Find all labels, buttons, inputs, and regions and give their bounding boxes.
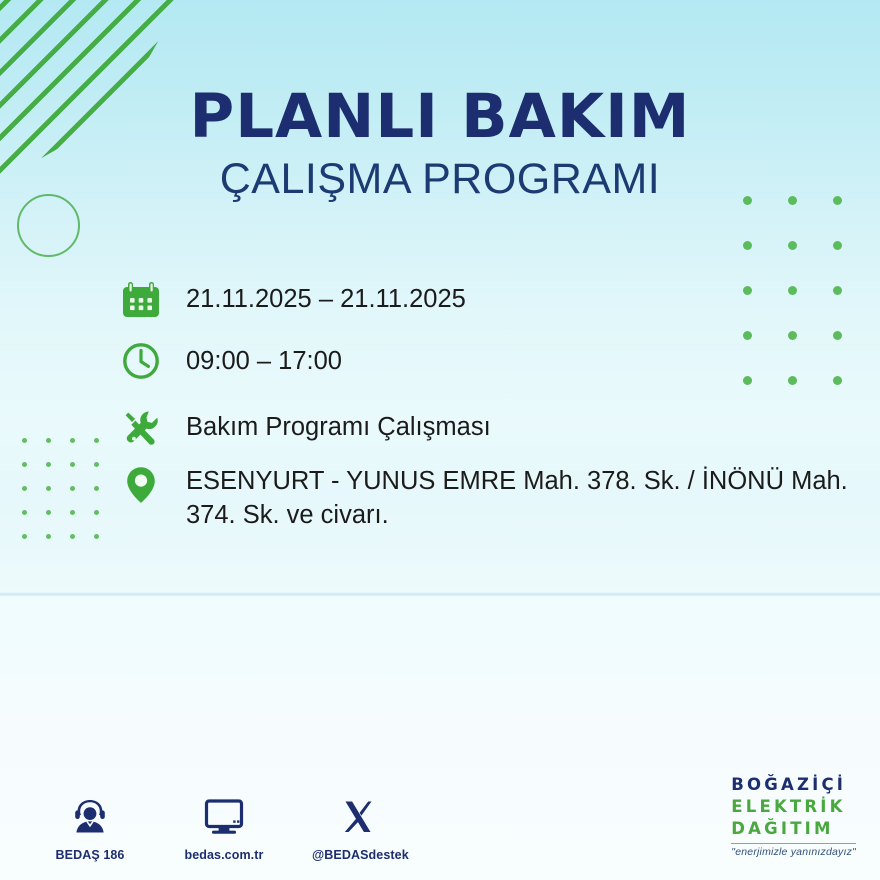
brand-tagline: "enerjimizle yanınızdayız" — [731, 846, 856, 858]
x-twitter-icon — [312, 792, 404, 840]
contact-phone-label: BEDAŞ 186 — [44, 848, 136, 862]
contact-phone[interactable]: BEDAŞ 186 — [44, 792, 136, 862]
brand-line-1: BOĞAZİÇİ — [731, 774, 856, 796]
detail-row-location: ESENYURT - YUNUS EMRE Mah. 378. Sk. / İN… — [118, 462, 858, 532]
monitor-icon — [178, 792, 270, 840]
contact-x-social[interactable]: @BEDASdestek — [312, 792, 404, 862]
contact-x-label: @BEDASdestek — [312, 848, 404, 862]
tools-icon — [118, 404, 164, 450]
detail-row-work-type: Bakım Programı Çalışması — [118, 404, 858, 450]
location-value: ESENYURT - YUNUS EMRE Mah. 378. Sk. / İN… — [186, 462, 858, 532]
page-subtitle: ÇALIŞMA PROGRAMI — [0, 158, 880, 201]
brand-divider — [731, 843, 856, 845]
calendar-icon — [118, 276, 164, 322]
headset-support-icon — [44, 792, 136, 840]
brand-logo: BOĞAZİÇİ ELEKTRİK DAĞITIM "enerjimizle y… — [731, 774, 856, 858]
footer-contact-links: BEDAŞ 186 bedas.com.tr @BEDASdestek — [44, 792, 404, 862]
contact-website-label: bedas.com.tr — [178, 848, 270, 862]
brand-line-3: DAĞITIM — [731, 818, 856, 840]
brand-line-2: ELEKTRİK — [731, 796, 856, 818]
date-value: 21.11.2025 – 21.11.2025 — [186, 276, 466, 316]
planned-maintenance-poster: PLANLI BAKIM ÇALIŞMA PROGRAMI — [0, 0, 880, 880]
time-value: 09:00 – 17:00 — [186, 338, 342, 378]
contact-website[interactable]: bedas.com.tr — [178, 792, 270, 862]
section-fade — [0, 597, 880, 717]
work-type-value: Bakım Programı Çalışması — [186, 404, 491, 444]
poster-header: PLANLI BAKIM ÇALIŞMA PROGRAMI — [0, 86, 880, 201]
detail-row-date: 21.11.2025 – 21.11.2025 — [118, 276, 858, 322]
detail-row-time: 09:00 – 17:00 — [118, 338, 858, 384]
page-title: PLANLI BAKIM — [0, 86, 880, 147]
clock-icon — [118, 338, 164, 384]
maintenance-details: 21.11.2025 – 21.11.2025 09:00 – 17:00 — [118, 276, 858, 546]
circle-outline-decoration — [17, 194, 80, 257]
map-pin-icon — [118, 462, 164, 508]
dot-grid-left-decoration — [12, 428, 108, 548]
